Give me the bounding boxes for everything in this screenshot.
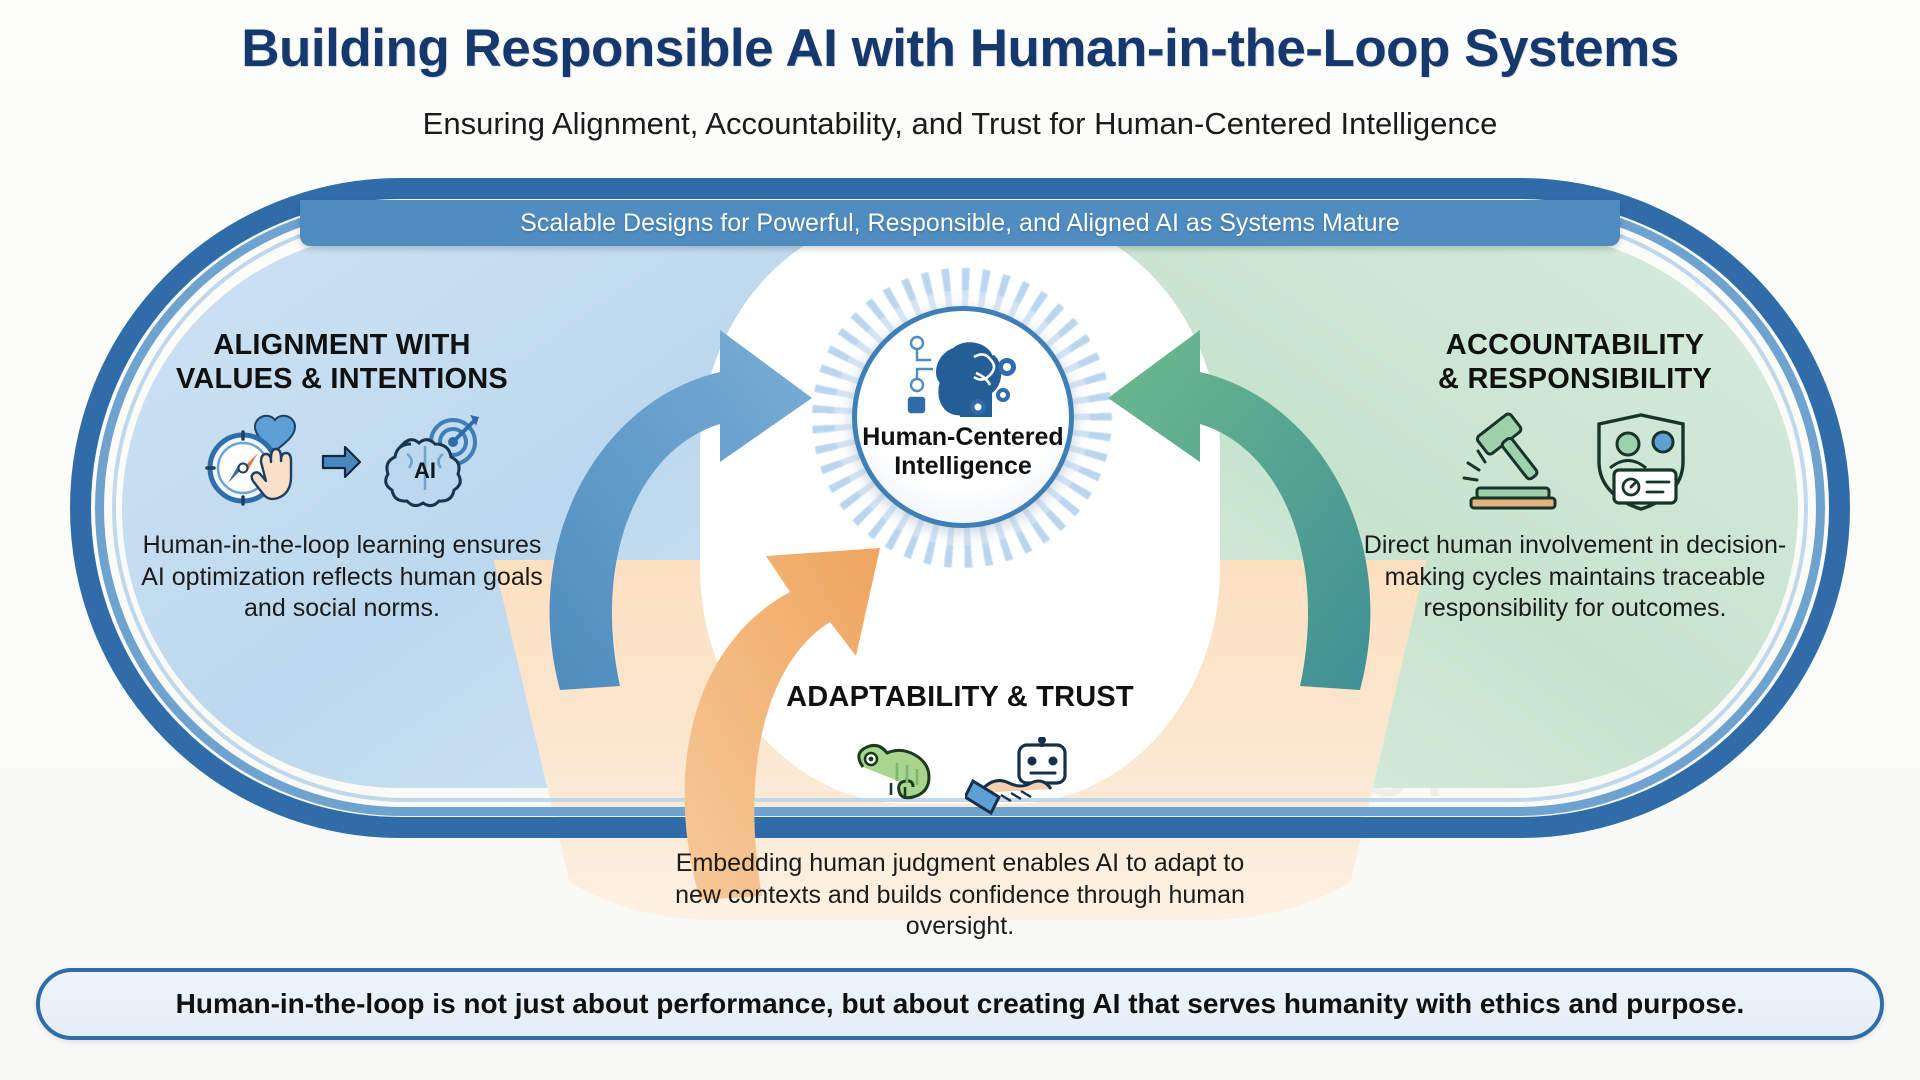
pillar-accountability-icons <box>1360 410 1790 514</box>
compass-heart-hand-icon <box>203 412 307 512</box>
center-node-label-line1: Human-Centered <box>862 423 1063 452</box>
pillar-alignment-heading-line1: ALIGNMENT WITH <box>132 328 552 362</box>
center-node: Human-Centered Intelligence <box>852 306 1074 528</box>
pillar-adaptability-heading: ADAPTABILITY & TRUST <box>660 680 1260 714</box>
gavel-icon <box>1457 412 1567 512</box>
pillar-accountability: ACCOUNTABILITY & RESPONSIBILITY <box>1360 328 1790 625</box>
footer-text: Human-in-the-loop is not just about perf… <box>176 988 1745 1020</box>
arrow-right-icon <box>321 444 363 480</box>
shield-person-id-icon <box>1581 412 1693 512</box>
pillar-adaptability: ADAPTABILITY & TRUST <box>660 680 1260 943</box>
pillar-accountability-body: Direct human involvement in decision-mak… <box>1360 530 1790 625</box>
brain-ai-target-icon: AI <box>377 412 481 512</box>
footer-banner: Human-in-the-loop is not just about perf… <box>36 968 1884 1040</box>
pillar-alignment: ALIGNMENT WITH VALUES & INTENTIONS <box>132 328 552 625</box>
pillar-adaptability-heading-line1: ADAPTABILITY & TRUST <box>660 680 1260 714</box>
infographic-canvas: LLION TIMES A FOR REAL IMPACT ™ Building… <box>0 0 1920 1080</box>
pillar-alignment-heading: ALIGNMENT WITH VALUES & INTENTIONS <box>132 328 552 396</box>
center-node-label-line2: Intelligence <box>862 452 1063 481</box>
pillar-accountability-heading: ACCOUNTABILITY & RESPONSIBILITY <box>1360 328 1790 396</box>
center-node-label: Human-Centered Intelligence <box>862 423 1063 481</box>
pillar-alignment-body: Human-in-the-loop learning ensures AI op… <box>132 530 552 625</box>
ring-banner-text: Scalable Designs for Powerful, Responsib… <box>520 209 1400 238</box>
pillar-accountability-heading-line2: & RESPONSIBILITY <box>1360 362 1790 396</box>
pillar-alignment-icons: AI <box>132 410 552 514</box>
pillar-adaptability-body: Embedding human judgment enables AI to a… <box>660 848 1260 943</box>
svg-text:AI: AI <box>414 458 436 483</box>
page-subtitle: Ensuring Alignment, Accountability, and … <box>0 106 1920 142</box>
pillar-alignment-heading-line2: VALUES & INTENTIONS <box>132 362 552 396</box>
ring-banner: Scalable Designs for Powerful, Responsib… <box>300 200 1620 246</box>
pillar-accountability-heading-line1: ACCOUNTABILITY <box>1360 328 1790 362</box>
pillar-adaptability-icons <box>660 728 1260 832</box>
human-ai-head-icon <box>904 327 1022 419</box>
page-title: Building Responsible AI with Human-in-th… <box>0 18 1920 79</box>
chameleon-icon <box>847 737 951 823</box>
robot-handshake-icon <box>965 737 1073 823</box>
